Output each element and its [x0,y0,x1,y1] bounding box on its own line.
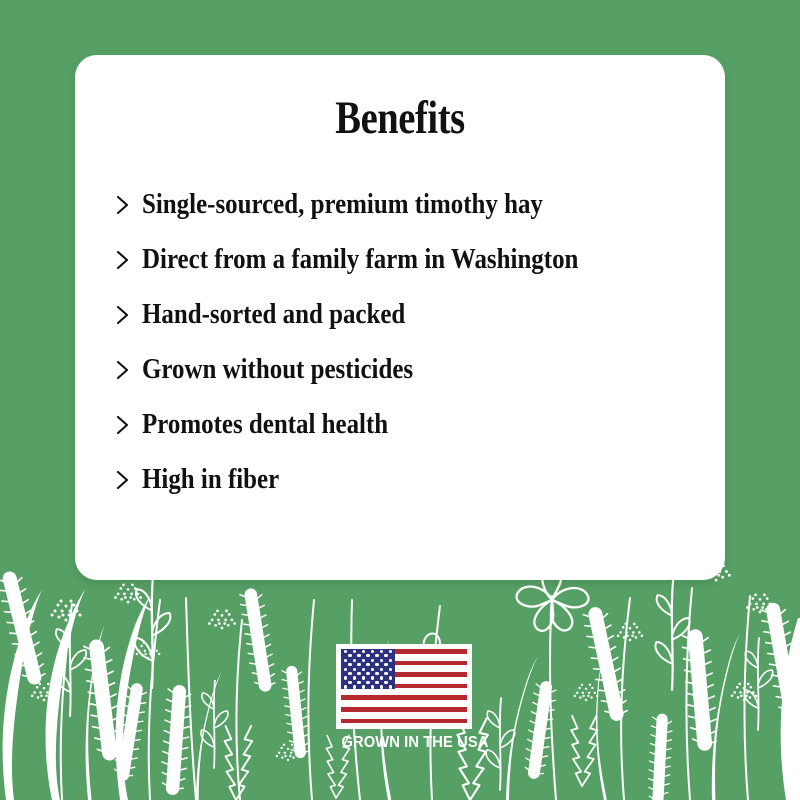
page-title: Benefits [134,91,667,145]
flag-star [371,685,374,688]
flag-star [384,672,387,675]
flag-star [357,663,360,666]
flag-star [375,654,378,657]
flag-star [348,672,351,675]
list-item-label: Grown without pesticides [142,354,413,386]
flag-star [348,663,351,666]
flag-star [371,659,374,662]
benefits-list: Single-sourced, premium timothy hay Dire… [113,177,713,507]
flag-star [389,676,392,679]
flag-star [380,676,383,679]
flag-star [344,668,347,671]
flag-star [380,668,383,671]
flag-star [348,654,351,657]
flag-star [366,672,369,675]
list-item: Direct from a family farm in Washington [113,232,713,287]
flag-star [389,650,392,653]
flag-star [357,681,360,684]
flag-star [362,676,365,679]
flag-star [362,685,365,688]
list-item: Promotes dental health [113,397,713,452]
badge-caption: GROWN IN THE USA [341,734,466,752]
flag-star [353,659,356,662]
flag-star [357,672,360,675]
benefits-card: Benefits Single-sourced, premium timothy… [75,55,725,580]
list-item: Grown without pesticides [113,342,713,397]
list-item-label: Promotes dental health [142,409,388,441]
flag-star [353,685,356,688]
flag-star [389,685,392,688]
grown-in-usa-badge: GROWN IN THE USA [336,644,472,752]
flag-star [348,681,351,684]
list-item: Hand-sorted and packed [113,287,713,342]
flag-star [353,668,356,671]
flag-star [389,668,392,671]
flag-star [357,654,360,657]
flag-star [375,663,378,666]
list-item-label: Single-sourced, premium timothy hay [142,189,543,221]
flag-star [384,663,387,666]
chevron-right-icon [113,304,133,326]
chevron-right-icon [113,469,133,491]
chevron-right-icon [113,359,133,381]
product-benefits-poster: Benefits Single-sourced, premium timothy… [0,0,800,800]
flag-star [344,676,347,679]
flag-star [362,668,365,671]
list-item: High in fiber [113,452,713,507]
flag-star [371,676,374,679]
chevron-right-icon [113,194,133,216]
flag-star [384,681,387,684]
flag-star [380,685,383,688]
flag-star [366,663,369,666]
list-item-label: High in fiber [142,464,279,496]
flag-star [344,659,347,662]
flag-star [366,681,369,684]
flag-star [344,685,347,688]
flag-star [362,659,365,662]
chevron-right-icon [113,249,133,271]
flag-star [380,659,383,662]
flag-star [353,676,356,679]
flag-star [353,650,356,653]
flag-star [344,650,347,653]
flag-star [375,681,378,684]
flag-star [371,668,374,671]
list-item-label: Hand-sorted and packed [142,299,405,331]
list-item: Single-sourced, premium timothy hay [113,177,713,232]
flag-star [380,650,383,653]
flag-star [366,654,369,657]
flag-star [375,672,378,675]
us-flag-icon [336,644,472,729]
flag-star [389,659,392,662]
flag-star [384,654,387,657]
flag-star [371,650,374,653]
chevron-right-icon [113,414,133,436]
flag-canton [341,649,395,689]
flag-star [362,650,365,653]
list-item-label: Direct from a family farm in Washington [142,244,578,276]
